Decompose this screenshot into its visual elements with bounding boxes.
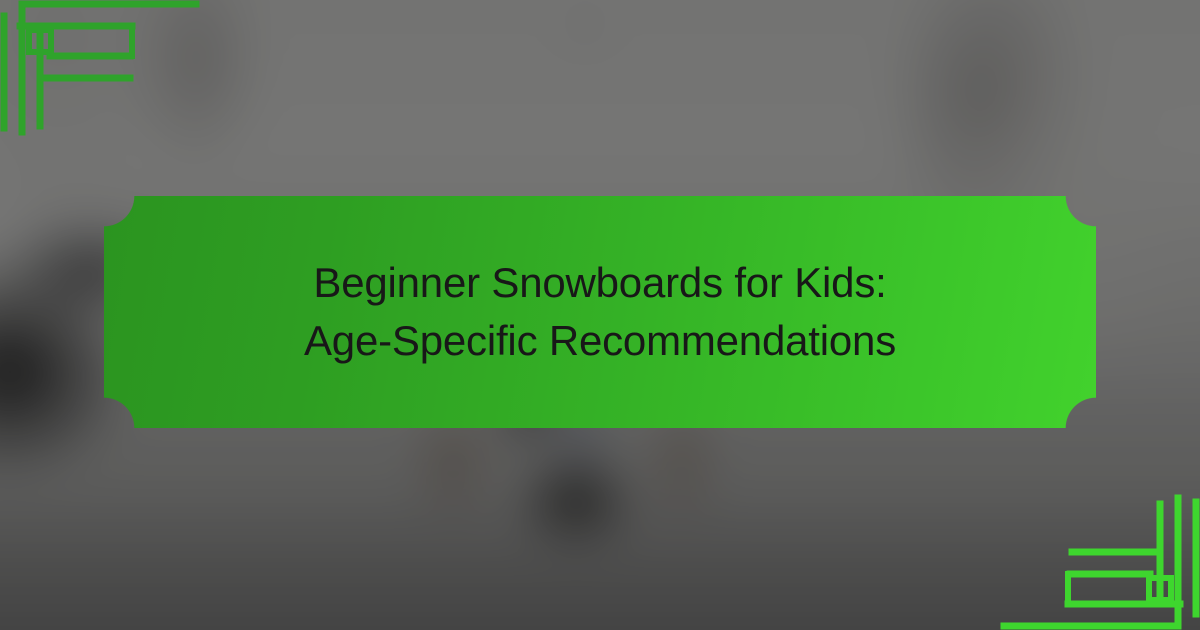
title-card: Beginner Snowboards for Kids: Age-Specif… <box>104 196 1096 428</box>
page-title-line-1: Beginner Snowboards for Kids: <box>170 254 1030 312</box>
og-banner: Beginner Snowboards for Kids: Age-Specif… <box>0 0 1200 630</box>
page-title-line-2: Age-Specific Recommendations <box>170 312 1030 370</box>
page-title: Beginner Snowboards for Kids: Age-Specif… <box>170 254 1030 370</box>
